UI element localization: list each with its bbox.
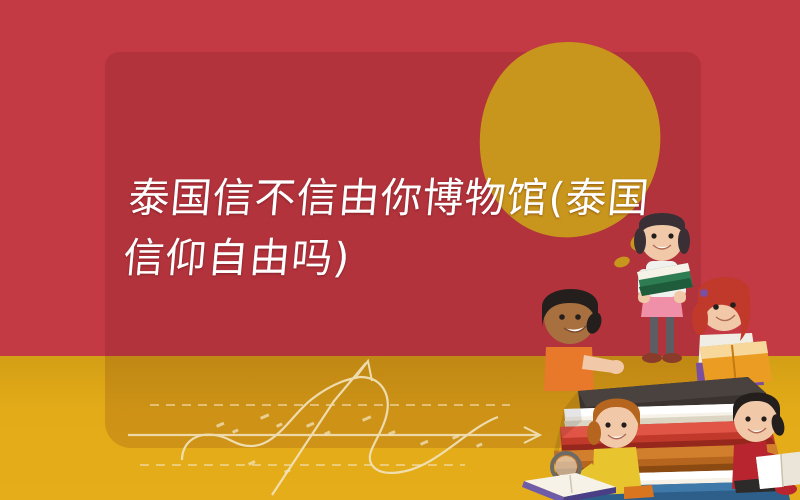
banner-canvas: 泰国信不信由你博物馆(泰国信仰自由吗) <box>0 0 800 500</box>
child-boy-orange-shirt <box>542 289 624 391</box>
child-girl-red-hair <box>692 277 772 389</box>
decorative-swirl-arrows <box>120 355 560 500</box>
page-title: 泰国信不信由你博物馆(泰国信仰自由吗) <box>121 168 691 288</box>
